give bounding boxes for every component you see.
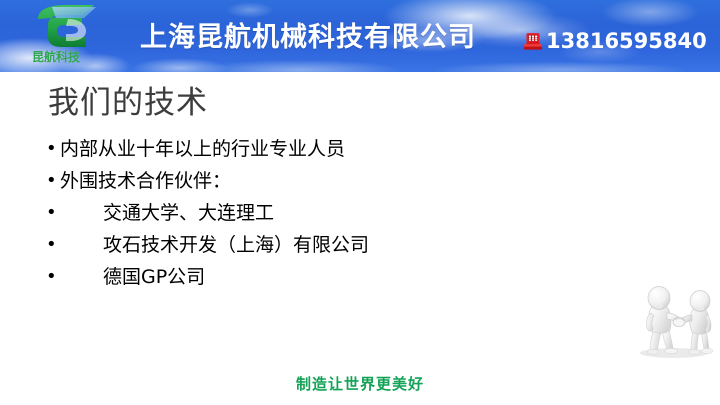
company-logo: 昆航科技 [22,3,118,71]
bullet-marker-icon: • [46,229,60,261]
company-title: 上海昆航机械科技有限公司 [140,22,476,54]
header-banner: 昆航科技 上海昆航机械科技有限公司 [0,0,720,72]
phone-number: 13816595840 [546,29,707,53]
company-logo-text: 昆航科技 [32,50,112,64]
technology-bullet-list: • 内部从业十年以上的行业专业人员 • 外围技术合作伙伴： • 交通大学、大连理… [46,133,606,293]
bullet-text: 德国GP公司 [103,261,205,293]
telephone-icon [522,30,544,52]
bullet-text: 内部从业十年以上的行业专业人员 [60,133,345,165]
bullet-item: • 交通大学、大连理工 [46,197,606,229]
bullet-text: 外围技术合作伙伴： [60,165,231,197]
bullet-marker-icon: • [46,261,60,293]
footer-slogan: 制造让世界更美好 [0,374,720,394]
phone-contact: 13816595840 [522,27,707,55]
bullet-marker-icon: • [46,165,60,197]
handshake-figures-icon [628,283,720,363]
bullet-marker-icon: • [46,197,60,229]
bullet-item: • 德国GP公司 [46,261,606,293]
bullet-marker-icon: • [46,133,60,165]
page-title: 我们的技术 [48,83,208,123]
handshake-figures-illustration [628,283,720,363]
bullet-item: • 外围技术合作伙伴： [46,165,606,197]
slide-root: 昆航科技 上海昆航机械科技有限公司 [0,0,720,405]
bullet-text: 交通大学、大连理工 [103,197,274,229]
bullet-text: 攻石技术开发（上海）有限公司 [103,229,369,261]
kunhang-logo-mark-icon [22,3,106,53]
bullet-item: • 内部从业十年以上的行业专业人员 [46,133,606,165]
bullet-item: • 攻石技术开发（上海）有限公司 [46,229,606,261]
